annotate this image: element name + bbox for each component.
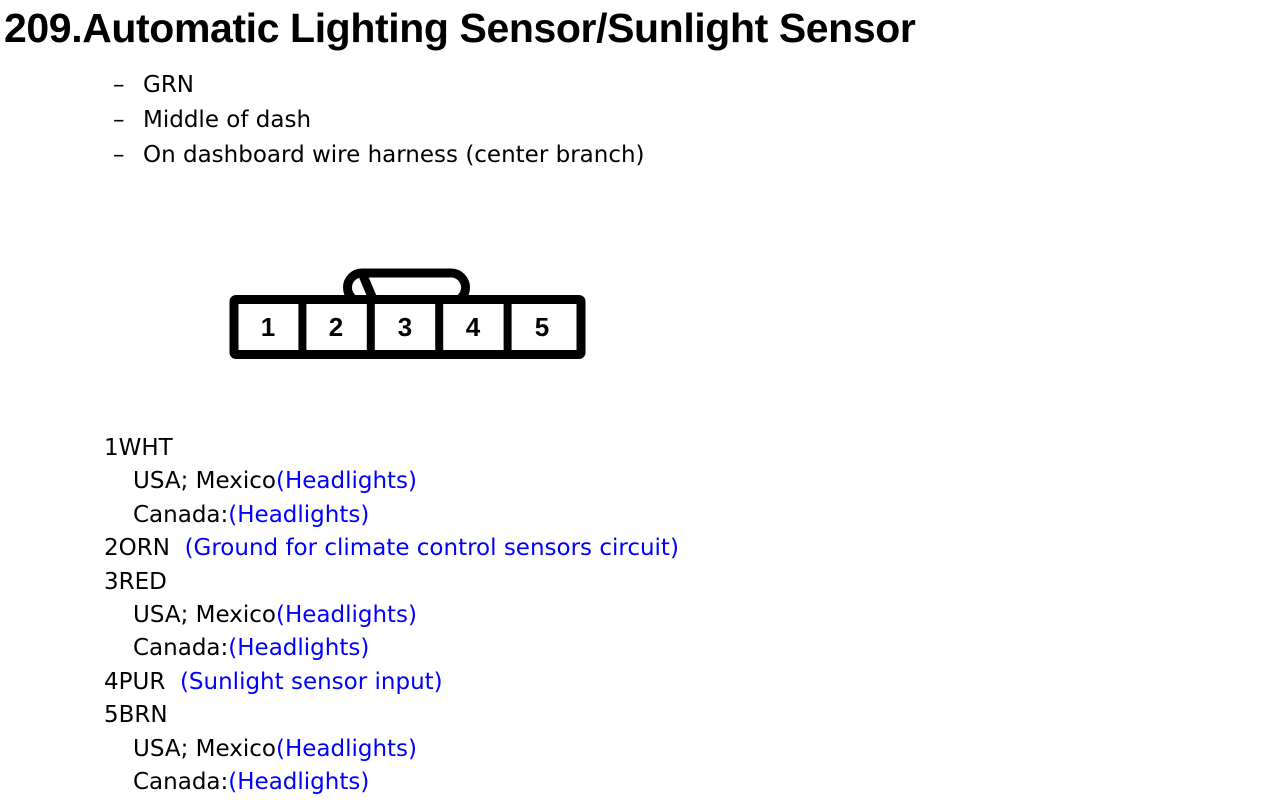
pin-circuit-label: (Headlights) bbox=[276, 736, 417, 762]
pin-head-label: 5BRN bbox=[104, 702, 168, 728]
pin-head-label: 4PUR bbox=[104, 669, 165, 695]
pin-head-label: 2ORN bbox=[104, 535, 170, 561]
pin-list: 1WHT USA; Mexico(Headlights) Canada:(Hea… bbox=[104, 432, 1104, 799]
pin-region-label: Canada: bbox=[133, 635, 228, 661]
pin-subline: Canada:(Headlights) bbox=[104, 766, 1104, 799]
pin-circuit-label: (Headlights) bbox=[228, 635, 369, 661]
note-item-label: Middle of dash bbox=[143, 103, 311, 138]
note-item-label: On dashboard wire harness (center branch… bbox=[143, 138, 645, 173]
pin-circuit-label: (Headlights) bbox=[276, 468, 417, 494]
connector-diagram: 1 2 3 4 5 bbox=[225, 243, 590, 363]
dash-bullet-icon: – bbox=[113, 68, 143, 103]
page-title: 209.Automatic Lighting Sensor/Sunlight S… bbox=[4, 2, 1272, 56]
pin-head-label: 1WHT bbox=[104, 435, 173, 461]
pin-subline: USA; Mexico(Headlights) bbox=[104, 733, 1104, 766]
pin-subline: USA; Mexico(Headlights) bbox=[104, 599, 1104, 632]
pin-region-label: Canada: bbox=[133, 502, 228, 528]
dash-bullet-icon: – bbox=[113, 103, 143, 138]
note-item-label: GRN bbox=[143, 68, 194, 103]
pin-head-label: 3RED bbox=[104, 569, 167, 595]
pin-circuit-label: (Headlights) bbox=[228, 769, 369, 795]
cavity-number: 3 bbox=[398, 312, 412, 342]
pin-circuit-label: (Ground for climate control sensors circ… bbox=[185, 535, 679, 561]
note-item: – GRN bbox=[113, 68, 1013, 103]
pin-circuit-label: (Headlights) bbox=[228, 502, 369, 528]
cavity-number: 4 bbox=[466, 312, 481, 342]
pin-subline: Canada:(Headlights) bbox=[104, 499, 1104, 532]
dash-bullet-icon: – bbox=[113, 138, 143, 173]
pin-entry-header: 4PUR (Sunlight sensor input) bbox=[104, 666, 1104, 699]
pin-subline: USA; Mexico(Headlights) bbox=[104, 465, 1104, 498]
note-item: – Middle of dash bbox=[113, 103, 1013, 138]
cavity-number: 1 bbox=[261, 312, 275, 342]
pin-entry-header: 2ORN (Ground for climate control sensors… bbox=[104, 532, 1104, 565]
notes-list: – GRN – Middle of dash – On dashboard wi… bbox=[113, 68, 1013, 173]
pin-circuit-label: (Headlights) bbox=[276, 602, 417, 628]
pin-circuit-label: (Sunlight sensor input) bbox=[180, 669, 443, 695]
pin-entry-header: 3RED bbox=[104, 566, 1104, 599]
pin-entry-header: 1WHT bbox=[104, 432, 1104, 465]
cavity-number: 2 bbox=[329, 312, 343, 342]
pin-region-label: Canada: bbox=[133, 769, 228, 795]
note-item: – On dashboard wire harness (center bran… bbox=[113, 138, 1013, 173]
pin-region-label: USA; Mexico bbox=[133, 602, 276, 628]
pin-region-label: USA; Mexico bbox=[133, 736, 276, 762]
cavity-number: 5 bbox=[535, 312, 549, 342]
pin-entry-header: 5BRN bbox=[104, 699, 1104, 732]
pin-region-label: USA; Mexico bbox=[133, 468, 276, 494]
pin-subline: Canada:(Headlights) bbox=[104, 632, 1104, 665]
